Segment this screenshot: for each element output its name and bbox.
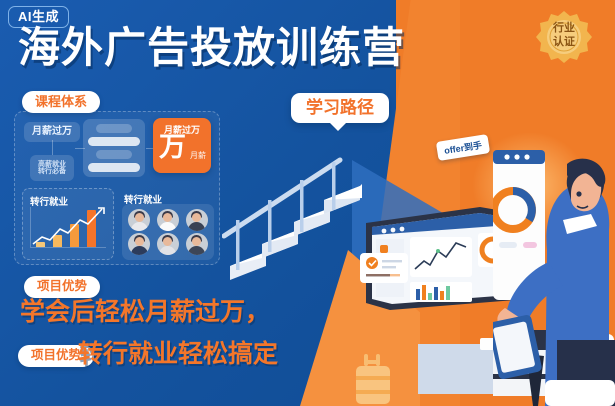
career-chart-title: 转行就业 xyxy=(30,194,68,208)
avatar xyxy=(157,209,179,231)
avatar xyxy=(128,209,150,231)
salary-card-big-text: 万 xyxy=(159,134,186,161)
salary-highlight-card: 月薪过万 万 月薪 xyxy=(153,118,211,173)
course-modules-panel xyxy=(83,119,145,177)
page-title: 海外广告投放训练营 xyxy=(18,26,405,70)
headline-line-1: 学会后轻松月薪过万， xyxy=(20,292,270,328)
headline-line-2: 转行就业轻松搞定 xyxy=(78,334,278,370)
module-row-2 xyxy=(88,163,140,172)
seal-line-1: 行业 xyxy=(535,22,593,36)
stairs-illustration xyxy=(222,140,362,290)
module-row-header-1 xyxy=(96,124,132,133)
connector-vertical xyxy=(52,140,53,155)
seal-label: 行业 认证 xyxy=(535,22,593,50)
dashboard-monitor xyxy=(360,205,515,310)
career-avatars-grid xyxy=(122,204,214,260)
suitcase-icon xyxy=(350,352,398,406)
course-node-sub: 高薪就业转行必备 xyxy=(30,155,74,181)
avatar xyxy=(186,209,208,231)
chart-x-axis xyxy=(30,247,106,248)
learning-path-bubble: 学习路径 xyxy=(291,93,389,123)
career-chart-plot xyxy=(30,207,106,247)
certification-seal: 行业 认证 xyxy=(535,10,593,68)
module-row-1 xyxy=(88,137,140,146)
module-row-header-2 xyxy=(96,150,132,159)
avatar xyxy=(128,233,150,255)
course-node-main: 月薪过万 xyxy=(24,122,80,142)
seal-line-2: 认证 xyxy=(535,36,593,50)
person-illustration xyxy=(493,150,615,406)
avatar xyxy=(157,233,179,255)
avatar xyxy=(186,233,208,255)
salary-card-unit: 月薪 xyxy=(190,150,206,161)
chart-trend-line xyxy=(30,207,106,247)
course-system-pill: 课程体系 xyxy=(22,91,100,113)
poster-root: AI生成 海外广告投放训练营 行业 认证 课程体系 月薪过万 高薪就业转行必备 … xyxy=(0,0,615,406)
